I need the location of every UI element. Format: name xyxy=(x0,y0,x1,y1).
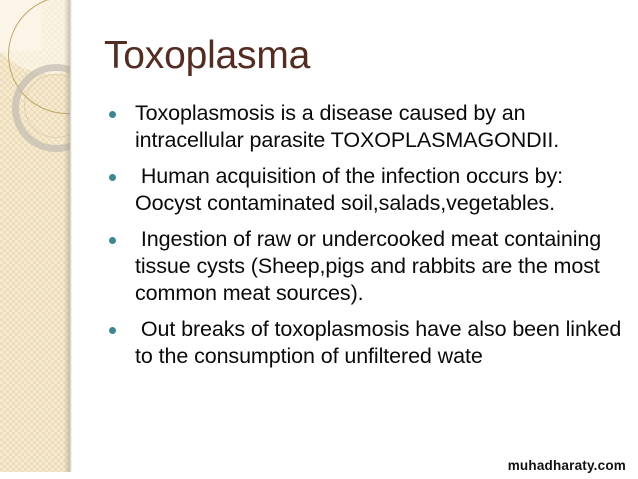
list-item-text: Ingestion of raw or undercooked meat con… xyxy=(135,226,632,307)
list-item: Out breaks of toxoplasmosis have also be… xyxy=(100,316,632,370)
list-item: Toxoplasmosis is a disease caused by an … xyxy=(100,100,632,154)
decorative-sidebar xyxy=(0,0,70,472)
bullet-dot-icon xyxy=(109,111,116,118)
bullet-dot-icon xyxy=(109,174,116,181)
list-item: Human acquisition of the infection occur… xyxy=(100,163,632,217)
list-item-text: Toxoplasmosis is a disease caused by an … xyxy=(135,100,632,154)
slide-title: Toxoplasma xyxy=(104,33,310,79)
bullet-dot-icon xyxy=(109,327,116,334)
presentation-slide: Toxoplasma Toxoplasmosis is a disease ca… xyxy=(0,0,638,479)
bullet-dot-icon xyxy=(109,237,116,244)
list-item-text: Human acquisition of the infection occur… xyxy=(135,163,632,217)
list-item-text: Out breaks of toxoplasmosis have also be… xyxy=(135,316,632,370)
footer-watermark: muhadharaty.com xyxy=(508,458,626,473)
list-item: Ingestion of raw or undercooked meat con… xyxy=(100,226,632,307)
sidebar-edge-line xyxy=(70,0,72,472)
slide-body: Toxoplasmosis is a disease caused by an … xyxy=(100,100,632,379)
